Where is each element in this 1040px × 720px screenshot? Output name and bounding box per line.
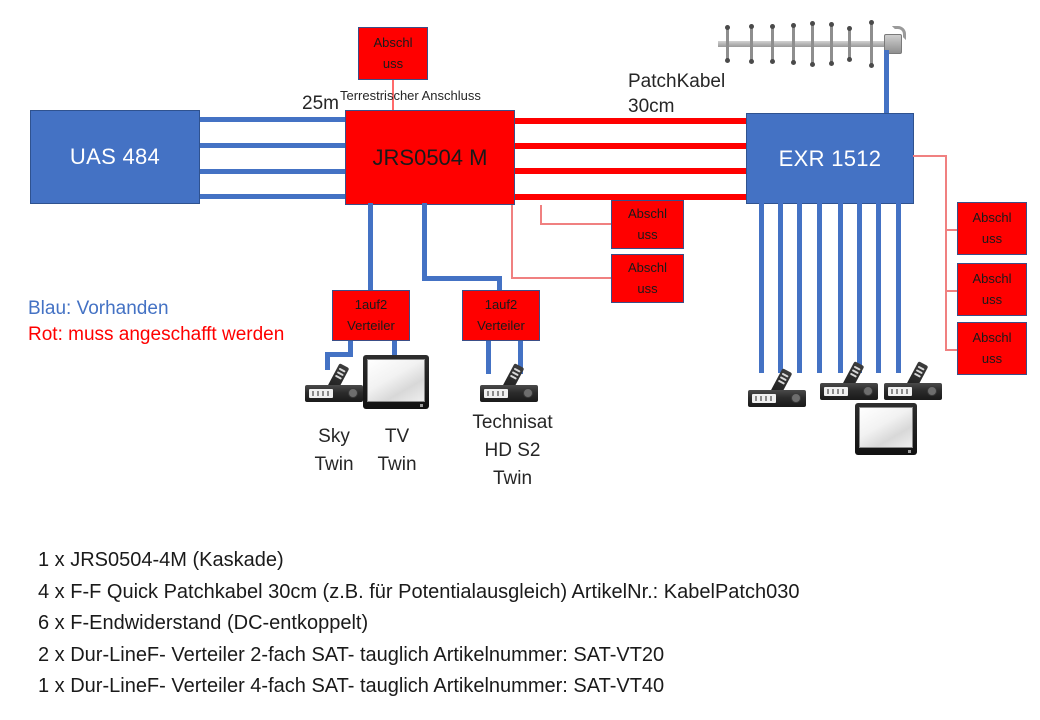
set-top-box xyxy=(480,385,538,402)
device-jrs0504-m[interactable]: JRS0504 M xyxy=(345,110,515,205)
cable-jrs-exr-2 xyxy=(512,143,750,149)
label-patchkabel-line1: PatchKabel xyxy=(628,70,725,95)
terminator-label-line1: Abschl xyxy=(972,208,1011,228)
label-technisat-line2: HD S2 xyxy=(455,439,570,463)
label-tv-twin-line2: Twin xyxy=(363,453,431,477)
yagi-antenna-icon xyxy=(718,22,908,66)
stb-knob xyxy=(348,388,358,398)
terminator-label-line2: uss xyxy=(972,290,1011,310)
cable-exr-out-1 xyxy=(759,203,764,373)
receiver-technisat-icon xyxy=(480,360,540,402)
set-top-box xyxy=(884,383,942,400)
device-jrs0504-m-label: JRS0504 M xyxy=(373,145,488,170)
terminator-label-line1: Abschl xyxy=(972,269,1011,289)
splitter-label-line1: 1auf2 xyxy=(347,295,395,315)
bom-line-4: 2 x Dur-LineF- Verteiler 2-fach SAT- tau… xyxy=(38,640,1028,672)
cable-uas-jrs-2 xyxy=(198,143,348,148)
terminator-box-top: Abschl uss xyxy=(358,27,428,80)
bom-line-3: 6 x F-Endwiderstand (DC-entkoppelt) xyxy=(38,608,1028,640)
antenna-element xyxy=(811,24,814,64)
terminator-label-line1: Abschl xyxy=(373,33,412,53)
splitter-label-line2: Verteiler xyxy=(347,316,395,336)
cable-exr-out-5 xyxy=(838,203,843,373)
label-technisat-line3: Twin xyxy=(455,467,570,491)
bill-of-materials: 1 x JRS0504-4M (Kaskade) 4 x F-F Quick P… xyxy=(38,545,1028,703)
cable-term-mid-2-h xyxy=(511,277,612,279)
legend-red-text: Rot: muss angeschafft werden xyxy=(28,324,284,346)
device-exr-1512-label: EXR 1512 xyxy=(779,146,882,171)
receiver-right-1-icon xyxy=(748,365,808,407)
antenna-hook xyxy=(892,26,906,40)
tv-right-icon xyxy=(855,403,917,455)
cable-jrs-exr-3 xyxy=(512,168,750,174)
cable-jrs-splitter-left xyxy=(368,203,373,291)
terminator-box-middle-1: Abschl uss xyxy=(611,200,684,249)
cable-term-mid-1-v xyxy=(540,205,542,223)
bom-line-2: 4 x F-F Quick Patchkabel 30cm (z.B. für … xyxy=(38,577,1028,609)
tv-screen xyxy=(367,359,425,402)
stb-display xyxy=(484,389,508,398)
antenna-element xyxy=(771,27,774,61)
stb-knob xyxy=(791,393,801,403)
antenna-element xyxy=(830,25,833,63)
terminator-box-right-3: Abschl uss xyxy=(957,322,1027,375)
tv-led xyxy=(908,450,911,453)
splitter-box-left: 1auf2 Verteiler xyxy=(332,290,410,341)
terminator-label-line1: Abschl xyxy=(628,204,667,224)
tv-twin-icon xyxy=(363,355,429,409)
stb-display xyxy=(888,387,912,396)
receiver-sky-twin-icon xyxy=(305,360,365,402)
cable-term-mid-1-h xyxy=(540,223,612,225)
bom-line-5: 1 x Dur-LineF- Verteiler 4-fach SAT- tau… xyxy=(38,671,1028,703)
terminator-label-line2: uss xyxy=(628,225,667,245)
cable-exr-out-2 xyxy=(778,203,783,373)
cable-uas-jrs-1 xyxy=(198,117,348,122)
set-top-box xyxy=(748,390,806,407)
antenna-element xyxy=(870,23,873,65)
cable-term-right-bus-top xyxy=(913,155,947,157)
terminator-label-line2: uss xyxy=(972,229,1011,249)
antenna-boom xyxy=(718,41,884,47)
cable-jrs-splitter-right-v1 xyxy=(422,203,427,280)
stb-display xyxy=(752,394,776,403)
tv-screen xyxy=(859,407,913,448)
antenna-element xyxy=(750,27,753,61)
stb-knob xyxy=(523,388,533,398)
cable-antenna-to-exr xyxy=(884,50,889,115)
cable-uas-jrs-3 xyxy=(198,169,348,174)
cable-uas-jrs-4 xyxy=(198,194,348,199)
stb-display xyxy=(824,387,848,396)
cable-term-mid-2-v xyxy=(511,205,513,277)
antenna-element xyxy=(848,29,851,59)
stb-knob xyxy=(863,386,873,396)
terminator-label-line2: uss xyxy=(972,349,1011,369)
label-patchkabel-line2: 30cm xyxy=(628,95,674,120)
terminator-label-line1: Abschl xyxy=(628,258,667,278)
diagram-canvas: Abschl uss 25m Terrestrischer Anschluss … xyxy=(0,0,1040,720)
cable-exr-out-6 xyxy=(857,203,862,373)
terminator-box-right-1: Abschl uss xyxy=(957,202,1027,255)
label-technisat-line1: Technisat xyxy=(455,411,570,435)
label-cable-length-25m: 25m xyxy=(302,93,339,115)
antenna-element xyxy=(792,26,795,62)
cable-exr-out-4 xyxy=(817,203,822,373)
device-uas-484[interactable]: UAS 484 xyxy=(30,110,200,204)
terminator-box-right-2: Abschl uss xyxy=(957,263,1027,316)
legend-blue-text: Blau: Vorhanden xyxy=(28,298,169,320)
antenna-element xyxy=(726,28,729,60)
terminator-label-line2: uss xyxy=(628,279,667,299)
tv-led xyxy=(420,404,423,407)
device-uas-484-label: UAS 484 xyxy=(70,144,160,169)
cable-exr-out-3 xyxy=(797,203,802,373)
label-terrestrial-connection: Terrestrischer Anschluss xyxy=(340,88,481,103)
label-sky-twin-line1: Sky xyxy=(300,425,368,449)
device-exr-1512[interactable]: EXR 1512 xyxy=(746,113,914,204)
terminator-label-line2: uss xyxy=(373,54,412,74)
cable-term-right-bus-v xyxy=(945,155,947,350)
cable-jrs-splitter-right-h xyxy=(422,276,502,281)
splitter-label-line1: 1auf2 xyxy=(477,295,525,315)
cable-jrs-exr-1 xyxy=(512,118,750,124)
splitter-box-right: 1auf2 Verteiler xyxy=(462,290,540,341)
cable-exr-out-7 xyxy=(876,203,881,373)
terminator-box-middle-2: Abschl uss xyxy=(611,254,684,303)
bom-line-1: 1 x JRS0504-4M (Kaskade) xyxy=(38,545,1028,577)
splitter-label-line2: Verteiler xyxy=(477,316,525,336)
label-tv-twin-line1: TV xyxy=(363,425,431,449)
stb-display xyxy=(309,389,333,398)
terminator-label-line1: Abschl xyxy=(972,328,1011,348)
receiver-right-2-icon xyxy=(820,358,880,400)
label-sky-twin-line2: Twin xyxy=(300,453,368,477)
cable-exr-out-8 xyxy=(896,203,901,373)
receiver-right-3-icon xyxy=(884,358,944,400)
set-top-box xyxy=(820,383,878,400)
stb-knob xyxy=(927,386,937,396)
set-top-box xyxy=(305,385,363,402)
